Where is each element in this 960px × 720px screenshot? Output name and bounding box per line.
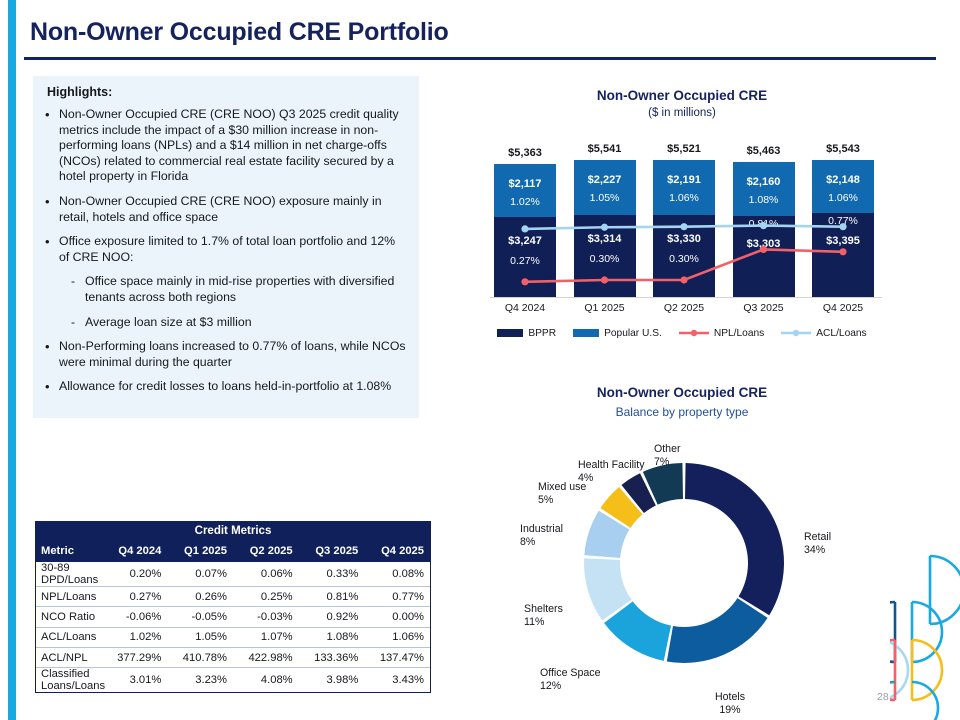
logo-mark-icon: [890, 548, 960, 720]
row-metric-value: 137.47%: [364, 647, 430, 667]
bar-chart-x-label: Q4 2024: [494, 302, 556, 314]
bar-chart-legend: BPPRPopular U.S.NPL/LoansACL/Loans: [472, 324, 892, 342]
table-row: 30-89 DPD/Loans0.20%0.07%0.06%0.33%0.08%: [36, 562, 430, 587]
row-metric-name: ACL/Loans: [36, 627, 102, 647]
legend-label: BPPR: [528, 328, 556, 339]
credit-metrics-table: Credit Metrics MetricQ4 2024Q1 2025Q2 20…: [35, 521, 431, 693]
npl-loans-line-marker: [760, 246, 767, 253]
bullet-marker-icon: •: [45, 194, 59, 210]
acl-loans-line-marker: [601, 224, 608, 231]
donut-slice-name: Hotels: [685, 691, 775, 704]
donut-slice-label: Office Space12%: [540, 667, 600, 693]
row-metric-value: -0.03%: [233, 607, 299, 627]
column-header: Q4 2024: [102, 541, 168, 562]
donut-slice: [685, 463, 784, 615]
row-metric-value: 0.92%: [299, 607, 365, 627]
donut-slice-value: 4%: [578, 472, 645, 485]
legend-line-icon: [781, 328, 811, 338]
bar-chart-x-label: Q2 2025: [653, 302, 715, 314]
row-metric-name: NCO Ratio: [36, 607, 102, 627]
donut-slice-value: 11%: [524, 616, 563, 629]
row-metric-value: 0.81%: [299, 587, 365, 607]
row-metric-value: 0.07%: [167, 562, 233, 587]
row-metric-name: Classified Loans/Loans: [36, 668, 102, 693]
highlight-bullet: •Non-Owner Occupied CRE (CRE NOO) exposu…: [33, 194, 419, 225]
donut-slice-label: Health Facility4%: [578, 459, 645, 485]
row-metric-value: 0.00%: [364, 607, 430, 627]
row-metric-value: 0.25%: [233, 587, 299, 607]
table-row: ACL/Loans1.02%1.05%1.07%1.08%1.06%: [36, 627, 430, 647]
highlight-bullet-text: Non-Performing loans increased to 0.77% …: [59, 339, 407, 370]
donut-slice-label: Industrial8%: [520, 523, 563, 549]
legend-swatch-icon: [497, 329, 523, 337]
donut-slice: [667, 598, 768, 663]
highlight-bullet-text: Allowance for credit losses to loans hel…: [59, 379, 407, 395]
column-header: Q1 2025: [167, 541, 233, 562]
bar-chart-x-label: Q3 2025: [733, 302, 795, 314]
table-header: MetricQ4 2024Q1 2025Q2 2025Q3 2025Q4 202…: [36, 541, 430, 562]
row-metric-value: 3.01%: [102, 668, 168, 693]
donut-slice-value: 34%: [804, 544, 831, 557]
row-metric-value: 1.05%: [167, 627, 233, 647]
donut-slice-name: Industrial: [520, 523, 563, 536]
popular-logo: [890, 548, 960, 720]
bar-chart-axis-line: [490, 297, 882, 298]
table-row: NPL/Loans0.27%0.26%0.25%0.81%0.77%: [36, 587, 430, 607]
highlight-bullet-text: Average loan size at $3 million: [85, 315, 407, 331]
highlights-heading: Highlights:: [47, 85, 112, 99]
table-caption-row: Credit Metrics: [36, 522, 430, 541]
donut-slice-label: Retail34%: [804, 531, 831, 557]
bullet-marker-icon: •: [45, 379, 59, 395]
donut-slice-name: Health Facility: [578, 459, 645, 472]
donut-chart-subtitle: Balance by property type: [472, 405, 892, 419]
highlight-bullet: -Office space mainly in mid-rise propert…: [33, 274, 419, 305]
row-metric-name: 30-89 DPD/Loans: [36, 562, 102, 587]
donut-slice-value: 5%: [538, 494, 586, 507]
page-number: 28: [877, 691, 889, 703]
highlight-bullet: •Allowance for credit losses to loans he…: [33, 379, 419, 395]
bullet-marker-icon: •: [45, 107, 59, 123]
row-metric-name: ACL/NPL: [36, 647, 102, 667]
row-metric-value: 1.08%: [299, 627, 365, 647]
row-metric-value: 3.23%: [167, 668, 233, 693]
table-row: Classified Loans/Loans3.01%3.23%4.08%3.9…: [36, 668, 430, 693]
row-metric-value: 0.27%: [102, 587, 168, 607]
acl-loans-line-marker: [839, 223, 846, 230]
bar-chart-x-labels: Q4 2024Q1 2025Q2 2025Q3 2025Q4 2025: [472, 302, 892, 320]
row-metric-value: 0.77%: [364, 587, 430, 607]
bar-chart-title: Non-Owner Occupied CRE: [472, 88, 892, 103]
npl-loans-line-marker: [601, 276, 608, 283]
legend-item: NPL/Loans: [679, 328, 764, 339]
cre-balance-bar-chart: Non-Owner Occupied CRE ($ in millions) $…: [472, 88, 892, 350]
row-metric-value: 410.78%: [167, 647, 233, 667]
donut-chart-svg: [472, 423, 892, 703]
highlight-bullet-text: Office space mainly in mid-rise properti…: [85, 274, 407, 305]
page-title: Non-Owner Occupied CRE Portfolio: [30, 18, 449, 47]
left-accent-bar: [8, 0, 16, 720]
row-metric-value: 133.36%: [299, 647, 365, 667]
row-metric-value: 1.02%: [102, 627, 168, 647]
highlights-panel: Highlights: •Non-Owner Occupied CRE (CRE…: [33, 76, 419, 418]
row-metric-value: 0.20%: [102, 562, 168, 587]
npl-loans-line-marker: [521, 278, 528, 285]
legend-label: Popular U.S.: [604, 328, 662, 339]
row-metric-value: 1.07%: [233, 627, 299, 647]
table-caption: Credit Metrics: [36, 522, 430, 541]
legend-line-icon: [679, 328, 709, 338]
donut-slice-value: 7%: [654, 456, 681, 469]
bullet-marker-icon: •: [45, 234, 59, 250]
legend-label: NPL/Loans: [714, 328, 764, 339]
legend-item: BPPR: [497, 328, 556, 339]
legend-item: Popular U.S.: [573, 328, 662, 339]
table-header-row: MetricQ4 2024Q1 2025Q2 2025Q3 2025Q4 202…: [36, 541, 430, 562]
table-row: ACL/NPL377.29%410.78%422.98%133.36%137.4…: [36, 647, 430, 667]
column-header: Q3 2025: [299, 541, 365, 562]
donut-slice-name: Office Space: [540, 667, 600, 680]
row-metric-value: 0.06%: [233, 562, 299, 587]
column-header: Q4 2025: [364, 541, 430, 562]
column-header: Metric: [36, 541, 102, 562]
highlight-bullet-text: Non-Owner Occupied CRE (CRE NOO) Q3 2025…: [59, 107, 407, 185]
bar-chart-x-label: Q4 2025: [812, 302, 874, 314]
title-divider: [24, 57, 936, 60]
highlight-bullet-text: Office exposure limited to 1.7% of total…: [59, 234, 407, 265]
row-metric-value: 0.08%: [364, 562, 430, 587]
legend-item: ACL/Loans: [781, 328, 866, 339]
highlight-bullet: •Office exposure limited to 1.7% of tota…: [33, 234, 419, 265]
legend-label: ACL/Loans: [816, 328, 866, 339]
row-metric-value: 377.29%: [102, 647, 168, 667]
bullet-marker-icon: -: [71, 274, 85, 290]
row-metric-value: 0.26%: [167, 587, 233, 607]
row-metric-value: -0.06%: [102, 607, 168, 627]
table-row: NCO Ratio-0.06%-0.05%-0.03%0.92%0.00%: [36, 607, 430, 627]
bar-chart-overlay-lines: [472, 126, 892, 298]
highlight-bullet: -Average loan size at $3 million: [33, 315, 419, 331]
donut-slice-value: 12%: [540, 680, 600, 693]
row-metric-value: 3.43%: [364, 668, 430, 693]
row-metric-value: 3.98%: [299, 668, 365, 693]
row-metric-name: NPL/Loans: [36, 587, 102, 607]
highlight-bullet-text: Non-Owner Occupied CRE (CRE NOO) exposur…: [59, 194, 407, 225]
row-metric-value: 1.06%: [364, 627, 430, 647]
row-metric-value: 4.08%: [233, 668, 299, 693]
column-header: Q2 2025: [233, 541, 299, 562]
npl-loans-line-marker: [680, 276, 687, 283]
donut-slice-name: Shelters: [524, 603, 563, 616]
donut-slice-value: 8%: [520, 536, 563, 549]
donut-slice-label: Shelters11%: [524, 603, 563, 629]
legend-swatch-icon: [573, 329, 599, 337]
donut-slice-name: Retail: [804, 531, 831, 544]
bar-chart-x-label: Q1 2025: [574, 302, 636, 314]
donut-slice-label: Hotels19%: [685, 691, 775, 717]
row-metric-value: -0.05%: [167, 607, 233, 627]
row-metric-value: 422.98%: [233, 647, 299, 667]
slide-canvas: Non-Owner Occupied CRE Portfolio Highlig…: [0, 0, 960, 720]
bar-chart-subtitle: ($ in millions): [472, 107, 892, 119]
acl-loans-line-marker: [680, 223, 687, 230]
donut-slice-label: Other7%: [654, 443, 681, 469]
acl-loans-line-marker: [521, 225, 528, 232]
table-body: 30-89 DPD/Loans0.20%0.07%0.06%0.33%0.08%…: [36, 562, 430, 693]
npl-loans-line-marker: [839, 248, 846, 255]
donut-chart-title: Non-Owner Occupied CRE: [472, 385, 892, 400]
cre-property-donut-chart: Non-Owner Occupied CRE Balance by proper…: [472, 385, 892, 705]
acl-loans-line-marker: [760, 222, 767, 229]
bullet-marker-icon: -: [71, 315, 85, 331]
highlight-bullet: •Non-Owner Occupied CRE (CRE NOO) Q3 202…: [33, 107, 419, 185]
donut-slice-name: Other: [654, 443, 681, 456]
bullet-marker-icon: •: [45, 339, 59, 355]
highlight-bullet: •Non-Performing loans increased to 0.77%…: [33, 339, 419, 370]
highlights-list: •Non-Owner Occupied CRE (CRE NOO) Q3 202…: [33, 107, 419, 404]
row-metric-value: 0.33%: [299, 562, 365, 587]
donut-slice-value: 19%: [685, 704, 775, 717]
